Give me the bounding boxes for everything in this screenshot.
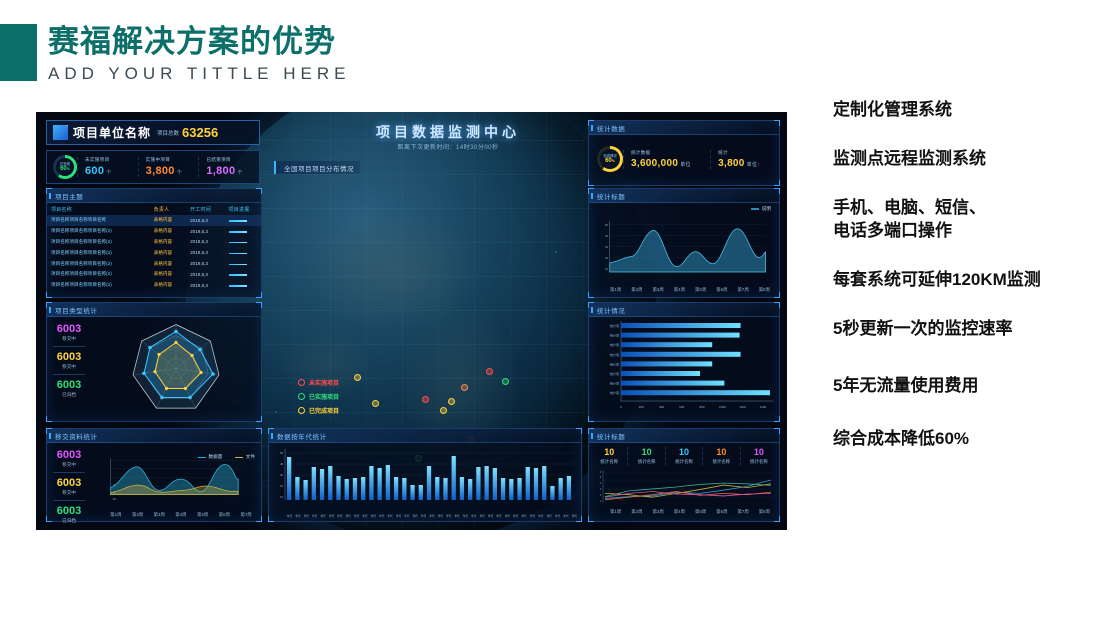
stats-bar-panel: 统计情况 统计项统计项统计项统计项统计项统计项统计项统计项 0200400600…	[588, 302, 780, 422]
metric-label: 统计	[718, 150, 779, 156]
bar-panel-title: 统计情况	[589, 303, 779, 317]
decade-bar[interactable]	[509, 479, 513, 500]
progress-bar-icon	[229, 285, 247, 287]
page-title: 赛福解决方案的优势	[48, 24, 336, 60]
hbar[interactable]	[621, 390, 770, 395]
kpi-unit: 个	[177, 170, 182, 176]
bullet-item: 监测点远程监测系统	[833, 147, 1093, 170]
decade-bar[interactable]	[369, 466, 373, 500]
decade-bar[interactable]	[353, 478, 357, 500]
svg-text:6: 6	[600, 472, 602, 474]
map-pin-yellow[interactable]	[354, 374, 361, 381]
map-pin-red[interactable]	[422, 396, 429, 403]
hbar[interactable]	[621, 371, 700, 376]
legend-line-icon	[751, 208, 759, 210]
decade-bar[interactable]	[468, 479, 472, 500]
total-projects-label: 项目总数	[157, 129, 179, 137]
x-tick: 1000	[719, 405, 726, 409]
map-pin-yellow[interactable]	[440, 407, 447, 414]
kpi-label: 统计名称	[628, 458, 664, 465]
progress-bar-icon	[229, 242, 247, 244]
kpi-in-progress: 实施中项目 3,800个	[138, 157, 199, 177]
feature-bullet-list: 定制化管理系统 监测点远程监测系统 手机、电脑、短信、 电话多端口操作 每套系统…	[833, 98, 1093, 476]
decade-bar[interactable]	[328, 466, 332, 500]
kpi-summary-bar: 已完成 60% 未实施项目 600个 实施中项目 3,800个 已结束项目 1,…	[46, 150, 260, 184]
project-type-radar-panel: 项目类型统计 6003 移交中 6003 移交中 6003 已归档	[46, 302, 262, 422]
area-chart-legend[interactable]: 说明	[751, 206, 771, 212]
line-series	[605, 480, 771, 499]
svg-text:3: 3	[600, 489, 602, 491]
cell-owner: 表格内容	[150, 258, 186, 269]
decade-panel-title: 数据按年代统计	[269, 429, 581, 443]
cell-progress	[225, 226, 261, 237]
total-projects-value: 63256	[182, 125, 218, 140]
decade-bar[interactable]	[336, 476, 340, 500]
metric-value: 3,800	[718, 158, 745, 169]
decade-bar[interactable]	[501, 478, 505, 500]
x-tick: 400	[659, 405, 664, 409]
x-tick: 第6周	[716, 509, 727, 515]
x-tick: 年代	[421, 514, 426, 518]
decade-bar[interactable]	[287, 457, 291, 500]
decade-bar[interactable]	[534, 468, 538, 500]
multi-line-panel: 统计标题 10统计名称 10统计名称 10统计名称 10统计名称 10统计名称 …	[588, 428, 780, 522]
x-tick: 第7周	[738, 287, 749, 293]
x-tick: 年代	[429, 514, 434, 518]
progress-bar-icon	[229, 274, 247, 276]
cell-progress	[225, 215, 261, 226]
kpi-not-started: 未实施项目 600个	[77, 157, 138, 177]
transfer-area-chart: 数据量 文件 1086 第1周	[91, 443, 261, 520]
svg-text:20: 20	[280, 484, 283, 488]
table-row[interactable]: 项目名称项目名称项目名称(2) 表格内容 2019,5,3	[47, 258, 261, 269]
kpi-label: 实施中项目	[146, 157, 199, 163]
column-header-name: 项目名称	[47, 203, 150, 215]
x-tick: 0	[620, 405, 622, 409]
multi-kpi: 10统计名称	[702, 447, 739, 465]
svg-text:50: 50	[605, 223, 608, 227]
dashboard-logo-bar: 项目单位名称 项目总数 63256	[46, 120, 260, 145]
cell-date: 2019,5,3	[186, 247, 225, 258]
multi-line-chart: 123456 第1周 第2周 第3周 第4周 第5周 第6周 第7周 第8周	[589, 467, 779, 515]
x-tick: 第3周	[653, 509, 664, 515]
x-tick: 年代	[488, 514, 493, 518]
x-tick: 年代	[379, 514, 384, 518]
svg-text:10: 10	[280, 495, 283, 499]
header-accent-block	[0, 24, 37, 81]
x-tick: 年代	[413, 514, 418, 518]
project-table-title: 项目主题	[47, 189, 261, 203]
x-tick: 1400	[760, 405, 767, 409]
table-row[interactable]: 项目名称项目名称项目名称(2) 表格内容 2019,5,3	[47, 280, 261, 291]
map-legend: 未实施项目 已实施项目 已完成项目	[298, 378, 339, 420]
x-tick: 年代	[312, 514, 317, 518]
stats-completion-gauge: 完成情况 60%	[597, 146, 623, 172]
kpi-label: 已结束项目	[206, 157, 259, 163]
cell-date: 2019,5,3	[186, 226, 225, 237]
table-row[interactable]: 项目名称项目名称项目名称(2) 表格内容 2019,5,3	[47, 269, 261, 280]
x-tick: 年代	[354, 514, 359, 518]
x-tick: 年代	[388, 514, 393, 518]
map-legend-label: 已完成项目	[309, 406, 339, 415]
stat-value: 6003	[47, 351, 91, 363]
x-tick: 年代	[463, 514, 468, 518]
map-badge-label: 全国项目项目分布情况	[284, 163, 354, 173]
x-tick: 第8周	[759, 509, 770, 515]
svg-text:10: 10	[605, 267, 608, 271]
map-legend-item[interactable]: 未实施项目	[298, 378, 339, 387]
kpi-value: 3,800	[146, 165, 175, 177]
decade-bar[interactable]	[452, 456, 456, 500]
map-pin-green[interactable]	[502, 378, 509, 385]
kpi-value: 10	[703, 447, 739, 458]
metric-unit: 单位	[747, 162, 758, 168]
svg-text:2: 2	[600, 495, 602, 497]
x-tick: 第7周	[240, 512, 251, 518]
kpi-label: 统计名称	[741, 458, 777, 465]
hbar-label: 统计项	[610, 352, 619, 357]
x-tick: 第5周	[695, 509, 706, 515]
unit-name: 项目单位名称	[73, 124, 151, 141]
svg-text:50: 50	[280, 451, 283, 455]
kpi-value: 10	[628, 447, 664, 458]
legend-dot-red-icon	[298, 379, 305, 386]
gauge-unit: %	[67, 167, 70, 171]
project-table: 项目名称 负责人 开工时间 项目进展 项目名称项目名称项目名称 表格内容 201…	[47, 203, 261, 290]
x-tick: 年代	[304, 514, 309, 518]
map-pin-yellow[interactable]	[372, 400, 379, 407]
decade-bar[interactable]	[435, 477, 439, 500]
x-tick: 年代	[337, 514, 342, 518]
stat-label: 移交中	[47, 363, 91, 370]
x-tick: 年代	[471, 514, 476, 518]
map-legend-label: 未实施项目	[309, 378, 339, 387]
x-tick: 年代	[480, 514, 485, 518]
hbar[interactable]	[621, 352, 741, 357]
cell-date: 2019,5,3	[186, 269, 225, 280]
cell-owner: 表格内容	[150, 226, 186, 237]
decade-bar[interactable]	[303, 480, 307, 500]
hbar-label: 统计项	[610, 371, 619, 376]
decade-bar[interactable]	[542, 466, 546, 500]
stat-value: 6003	[47, 449, 91, 461]
hbar-label: 统计项	[610, 323, 619, 328]
stat-value: 6003	[47, 379, 91, 391]
x-tick: 年代	[547, 514, 552, 518]
x-tick: 第4周	[674, 509, 685, 515]
decade-bar[interactable]	[320, 469, 324, 500]
company-logo-icon	[53, 125, 68, 140]
cell-owner: 表格内容	[150, 269, 186, 280]
metric-unit: 单位	[680, 162, 691, 168]
decade-bar[interactable]	[402, 478, 406, 500]
x-tick: 第1周	[610, 509, 621, 515]
multi-kpi: 10统计名称	[740, 447, 777, 465]
svg-text:1: 1	[600, 501, 602, 503]
svg-text:30: 30	[280, 473, 283, 477]
hbar[interactable]	[621, 361, 712, 366]
bullet-item: 5年无流量使用费用	[833, 374, 1093, 397]
bullet-item: 电话多端口操作	[833, 219, 1093, 242]
area-chart-x-axis: 第1周 第2周 第3周 第4周 第5周 第6周 第7周 第8周	[605, 287, 775, 293]
dashboard-screenshot: 项目数据监测中心 距离下次更新时间：14时30分00秒 全国项目项目分布情况 未…	[36, 112, 787, 530]
decade-bar[interactable]	[526, 467, 530, 500]
stat-value: 6003	[47, 477, 91, 489]
decade-bar[interactable]	[460, 477, 464, 500]
kpi-unit: 个	[106, 170, 111, 176]
multi-kpi: 10统计名称	[627, 447, 664, 465]
decade-bar[interactable]	[443, 478, 447, 500]
decade-bar[interactable]	[517, 478, 521, 500]
x-tick: 年代	[321, 514, 326, 518]
map-pin-orange[interactable]	[461, 384, 468, 391]
stats-metric-secondary: 统计 3,800单位↑	[710, 150, 779, 169]
dashboard-countdown: 距离下次更新时间：14时30分00秒	[298, 142, 598, 151]
x-tick: 1200	[739, 405, 746, 409]
bullet-item: 5秒更新一次的监控速率	[833, 317, 1093, 340]
cell-progress	[225, 237, 261, 248]
gauge-value: 60	[605, 158, 612, 164]
cell-name: 项目名称项目名称项目名称(2)	[47, 247, 150, 258]
kpi-value: 10	[591, 447, 627, 458]
cell-owner: 表格内容	[150, 237, 186, 248]
legend-dot-green-icon	[298, 393, 305, 400]
area-panel-title: 统计标题	[589, 189, 779, 203]
svg-text:5: 5	[600, 477, 602, 479]
stat-label: 移交中	[47, 335, 91, 342]
stat-label: 移交中	[47, 489, 91, 496]
stat-label: 移交中	[47, 461, 91, 468]
decade-bar[interactable]	[386, 465, 390, 500]
map-pin-yellow[interactable]	[448, 398, 455, 405]
cell-owner: 表格内容	[150, 247, 186, 258]
decade-bar-chart: 1020304050 年代年代年代年代年代年代年代年代年代年代年代年代年代年代年…	[269, 443, 581, 520]
kpi-value: 10	[741, 447, 777, 458]
x-tick: 年代	[396, 514, 401, 518]
x-tick: 年代	[513, 514, 518, 518]
cell-progress	[225, 258, 261, 269]
map-legend-label: 已实施项目	[309, 392, 339, 401]
hbar[interactable]	[621, 333, 740, 338]
x-tick: 年代	[530, 514, 535, 518]
progress-bar-icon	[229, 264, 247, 266]
multi-kpi-row: 10统计名称 10统计名称 10统计名称 10统计名称 10统计名称	[589, 443, 779, 467]
stat-label: 已归档	[47, 391, 91, 398]
decade-bar[interactable]	[567, 476, 571, 500]
map-distribution-badge: 全国项目项目分布情况	[274, 161, 360, 174]
decade-bar[interactable]	[394, 477, 398, 500]
decade-bar[interactable]	[493, 468, 497, 500]
metric-label: 统计数据	[631, 150, 710, 156]
table-row[interactable]: 项目名称项目名称项目名称 表格内容 2019,5,3	[47, 215, 261, 226]
x-tick: 第7周	[738, 509, 749, 515]
radar-stats: 6003 移交中 6003 移交中 6003 已归档	[47, 317, 91, 420]
column-header-date: 开工时间	[186, 203, 225, 215]
cell-progress	[225, 280, 261, 291]
kpi-label: 统计名称	[703, 458, 739, 465]
stats-area-panel: 统计标题 说明 1020304050 第1周 第2周 第3周	[588, 188, 780, 298]
map-legend-item[interactable]: 已完成项目	[298, 406, 339, 415]
svg-text:10: 10	[113, 497, 117, 501]
decade-bar[interactable]	[476, 467, 480, 500]
x-tick: 第3周	[154, 512, 165, 518]
hbar-label: 统计项	[610, 333, 619, 338]
multi-kpi: 10统计名称	[591, 447, 627, 465]
stat-value: 6003	[47, 505, 91, 517]
stat-label: 已归档	[47, 517, 91, 524]
cell-owner: 表格内容	[150, 280, 186, 291]
stats-area-chart: 说明 1020304050 第1周 第2周 第3周 第4周 第5周 第6周	[589, 203, 779, 296]
progress-bar-icon	[229, 220, 247, 222]
decade-bar[interactable]	[484, 466, 488, 500]
table-row[interactable]: 项目名称项目名称项目名称(2) 表格内容 2019,5,3	[47, 247, 261, 258]
x-tick: 年代	[555, 514, 560, 518]
multi-panel-title: 统计标题	[589, 429, 779, 443]
decade-bar[interactable]	[427, 466, 431, 500]
x-tick: 年代	[446, 514, 451, 518]
kpi-label: 未实施项目	[85, 157, 138, 163]
progress-bar-icon	[229, 231, 247, 233]
decade-bar[interactable]	[419, 485, 423, 500]
x-tick: 年代	[538, 514, 543, 518]
x-tick: 年代	[346, 514, 351, 518]
svg-text:40: 40	[280, 462, 283, 466]
x-tick: 年代	[505, 514, 510, 518]
column-header-owner: 负责人	[150, 203, 186, 215]
bullet-item: 综合成本降低60%	[833, 427, 1093, 450]
x-tick: 第4周	[674, 287, 685, 293]
x-tick: 年代	[371, 514, 376, 518]
x-tick: 600	[679, 405, 684, 409]
x-tick: 第6周	[219, 512, 230, 518]
decade-bar[interactable]	[312, 467, 316, 500]
x-tick: 年代	[563, 514, 568, 518]
x-tick: 年代	[295, 514, 300, 518]
map-legend-item[interactable]: 已实施项目	[298, 392, 339, 401]
hbar-label: 统计项	[610, 381, 619, 386]
progress-bar-icon	[229, 253, 247, 255]
stats-panel-title: 统计数据	[589, 121, 779, 135]
transfer-chart-x-axis: 第1周 第2周 第3周 第4周 第5周 第6周 第7周	[105, 512, 257, 518]
x-tick: 第8周	[759, 287, 770, 293]
metric-value: 3,600,000	[631, 158, 678, 169]
x-tick: 第5周	[197, 512, 208, 518]
x-tick: 第3周	[653, 287, 664, 293]
slide-header: 赛福解决方案的优势 ADD YOUR TITTLE HERE	[0, 12, 1100, 82]
table-row[interactable]: 项目名称项目名称项目名称(2) 表格内容 2019,5,3	[47, 237, 261, 248]
transfer-stats-panel: 移交资料统计 6003 移交中 6003 移交中 6003 已归档 数据量 文件	[46, 428, 262, 522]
x-tick: 200	[639, 405, 644, 409]
cell-name: 项目名称项目名称项目名称(2)	[47, 269, 150, 280]
decade-bar[interactable]	[295, 477, 299, 500]
kpi-finished: 已结束项目 1,800个	[198, 157, 259, 177]
x-tick: 第2周	[631, 509, 642, 515]
hbar[interactable]	[621, 323, 741, 328]
dashboard-title: 项目数据监测中心	[298, 122, 598, 142]
hbar-label: 统计项	[610, 342, 619, 347]
project-table-panel: 项目主题 项目名称 负责人 开工时间 项目进展 项目名称项目名称项目名称 表格内…	[46, 188, 262, 298]
decade-bar[interactable]	[550, 486, 554, 500]
x-tick: 年代	[438, 514, 443, 518]
gauge-unit: %	[612, 159, 615, 163]
cell-name: 项目名称项目名称项目名称(2)	[47, 237, 150, 248]
x-tick: 年代	[362, 514, 367, 518]
map-pin-red[interactable]	[486, 368, 493, 375]
decade-bar[interactable]	[361, 477, 365, 500]
decade-chart-x-axis: 年代年代年代年代年代年代年代年代年代年代年代年代年代年代年代年代年代年代年代年代…	[287, 514, 577, 518]
kpi-label: 统计名称	[591, 458, 627, 465]
decade-bar[interactable]	[559, 478, 563, 500]
column-header-progress: 项目进展	[225, 203, 261, 215]
kpi-value: 10	[666, 447, 702, 458]
multi-kpi: 10统计名称	[665, 447, 702, 465]
hbar-label: 统计项	[610, 361, 619, 366]
decade-stats-panel: 数据按年代统计 1020304050 年代年代年代年代年代年代年代年代年	[268, 428, 582, 522]
hbar[interactable]	[621, 342, 712, 347]
legend-dot-yellow-icon	[298, 407, 305, 414]
bullet-item: 每套系统可延伸120KM监测	[833, 268, 1093, 291]
cell-name: 项目名称项目名称项目名称(2)	[47, 258, 150, 269]
x-tick: 第2周	[631, 287, 642, 293]
transfer-panel-title: 移交资料统计	[47, 429, 261, 443]
kpi-label: 统计名称	[666, 458, 702, 465]
stats-data-panel: 统计数据 完成情况 60% 统计数据 3,600,000单位 统计 3,800单…	[588, 120, 780, 186]
svg-text:40: 40	[605, 234, 608, 238]
x-tick: 年代	[329, 514, 334, 518]
decade-bar[interactable]	[345, 479, 349, 500]
svg-text:20: 20	[605, 256, 608, 260]
hbar-label: 统计项	[610, 390, 619, 395]
cell-date: 2019,5,3	[186, 237, 225, 248]
decade-bar[interactable]	[410, 485, 414, 500]
hbar[interactable]	[621, 381, 724, 386]
decade-bar[interactable]	[378, 468, 382, 500]
cell-name: 项目名称项目名称项目名称(2)	[47, 226, 150, 237]
x-tick: 年代	[404, 514, 409, 518]
kpi-unit: 个	[237, 170, 242, 176]
cell-owner: 表格内容	[150, 215, 186, 226]
svg-text:30: 30	[605, 245, 608, 249]
x-tick: 年代	[455, 514, 460, 518]
x-tick: 年代	[522, 514, 527, 518]
kpi-value: 1,800	[206, 165, 235, 177]
trend-up-icon: ↑	[757, 162, 760, 168]
x-tick: 年代	[287, 514, 292, 518]
svg-text:4: 4	[600, 483, 602, 485]
x-tick: 第1周	[610, 287, 621, 293]
radar-panel-title: 项目类型统计	[47, 303, 261, 317]
stats-hbar-chart: 统计项统计项统计项统计项统计项统计项统计项统计项 020040060080010…	[589, 317, 779, 420]
gauge-value: 60	[60, 166, 67, 172]
x-tick: 第5周	[695, 287, 706, 293]
stats-metric-total: 统计数据 3,600,000单位	[623, 150, 710, 169]
x-tick: 年代	[496, 514, 501, 518]
stat-value: 6003	[47, 323, 91, 335]
cell-date: 2019,5,3	[186, 258, 225, 269]
table-header-row: 项目名称 负责人 开工时间 项目进展	[47, 203, 261, 215]
table-row[interactable]: 项目名称项目名称项目名称(2) 表格内容 2019,5,3	[47, 226, 261, 237]
legend-label: 说明	[762, 206, 771, 212]
radar-chart	[91, 317, 261, 420]
x-tick: 年代	[572, 514, 577, 518]
cell-date: 2019,5,3	[186, 280, 225, 291]
x-tick: 第4周	[175, 512, 186, 518]
multi-chart-x-axis: 第1周 第2周 第3周 第4周 第5周 第6周 第7周 第8周	[605, 509, 775, 515]
cell-progress	[225, 247, 261, 258]
cell-name: 项目名称项目名称项目名称(2)	[47, 280, 150, 291]
cell-date: 2019,5,3	[186, 215, 225, 226]
page-subtitle: ADD YOUR TITTLE HERE	[48, 64, 350, 84]
